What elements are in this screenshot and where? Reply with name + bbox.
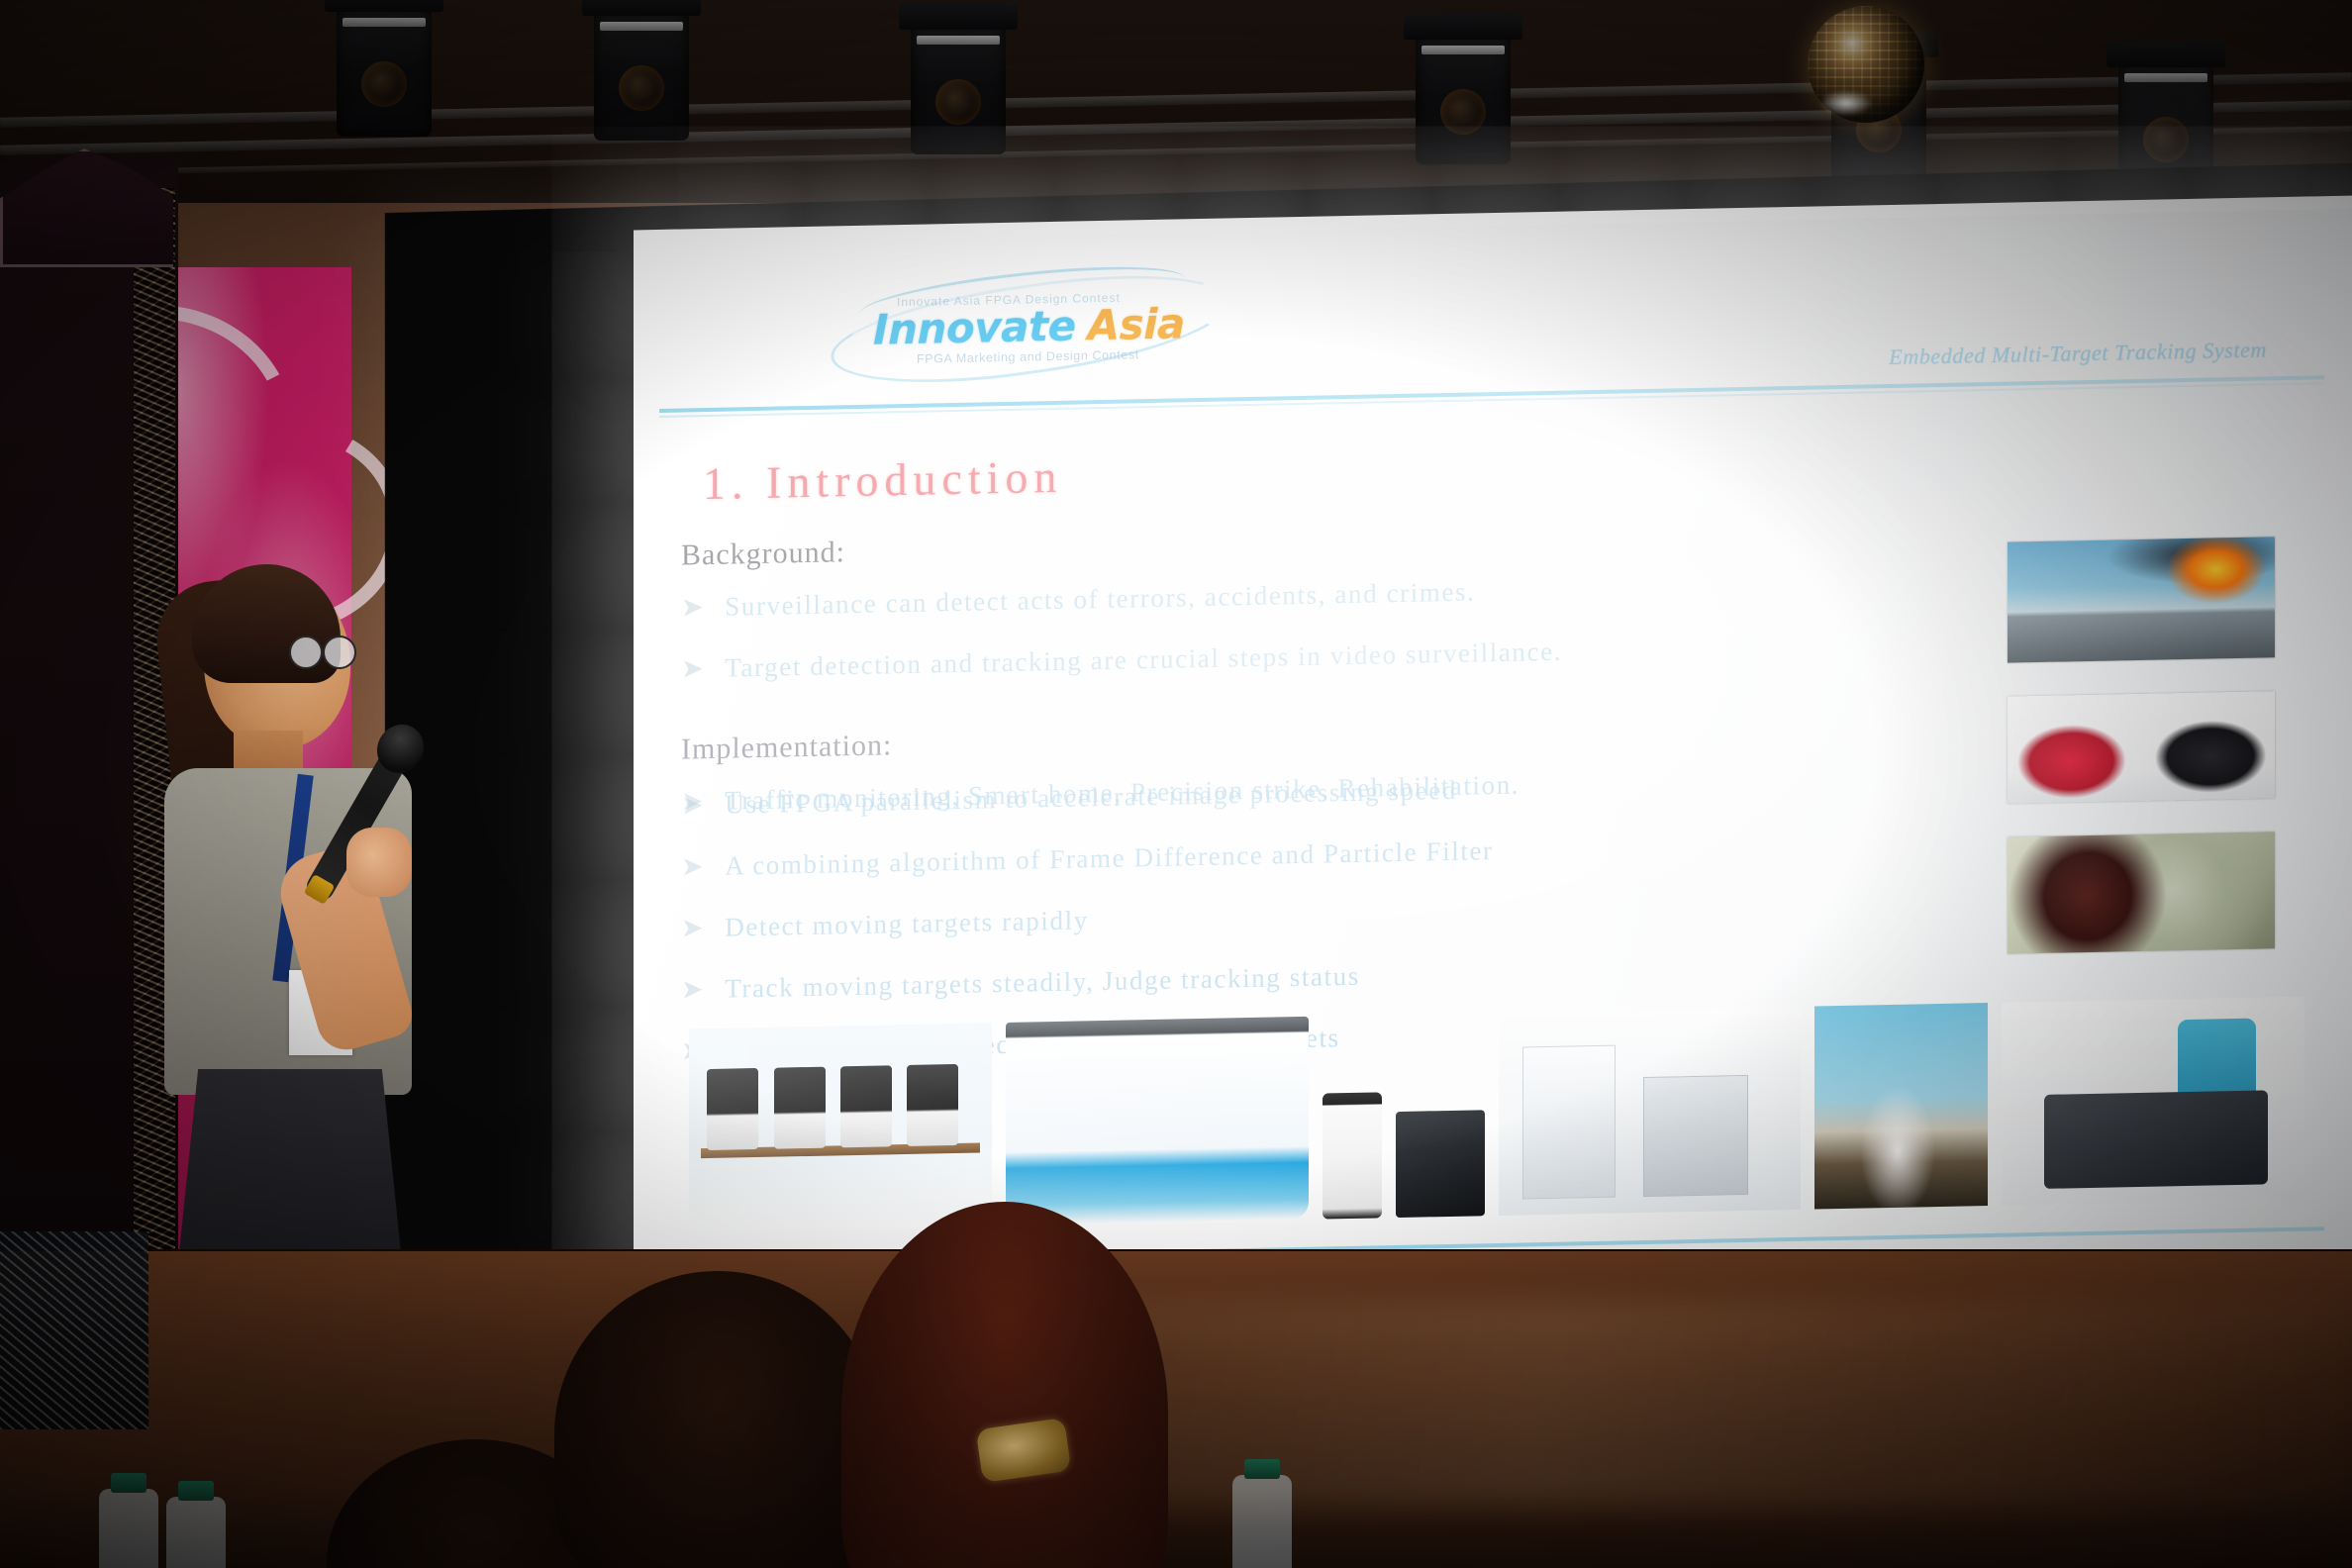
- slide-body: Background: ➤ Surveillance can detect ac…: [681, 517, 1790, 539]
- bullet-marker-icon: ➤: [681, 909, 705, 948]
- hair-clip-icon: [975, 1418, 1071, 1483]
- glasses-icon: [289, 636, 352, 665]
- bullet-text: Target detection and tracking are crucia…: [725, 633, 1562, 689]
- slide-bottom-image-strip: [689, 997, 2304, 1232]
- bullet-text: Surveillance can detect acts of terrors,…: [725, 572, 1475, 627]
- car-crash-photo: [2008, 691, 2275, 803]
- foreground-sparkle-trim: [0, 1231, 148, 1429]
- bullet-item: ➤ Track moving targets steadily, Judge t…: [681, 947, 1829, 1010]
- section-heading-background: Background:: [681, 517, 1790, 572]
- slide-title: 1. Introduction: [703, 450, 1062, 510]
- light-yoke: [582, 0, 701, 16]
- light-yoke: [325, 0, 443, 12]
- moving-head-light-icon: [911, 24, 1006, 154]
- moving-head-light-icon: [1416, 34, 1511, 164]
- water-bottle: [166, 1497, 226, 1568]
- bullet-marker-icon: ➤: [681, 588, 705, 628]
- bullet-marker-icon: ➤: [681, 847, 705, 887]
- money-crime-photo: [2008, 832, 2275, 953]
- smartphone-photo: [1323, 1092, 1382, 1219]
- innovate-asia-logo: Innovate Asia FPGA Design Contest Innova…: [830, 276, 1245, 375]
- bullet-item: ➤ Surveillance can detect acts of terror…: [681, 566, 1790, 628]
- bullet-marker-icon: ➤: [681, 649, 705, 689]
- bullet-text: Track moving targets steadily, Judge tra…: [725, 957, 1360, 1010]
- bullet-text: A combining algorithm of Frame Differenc…: [725, 832, 1493, 887]
- light-yoke: [1404, 14, 1522, 40]
- moving-head-light-icon: [337, 6, 432, 137]
- presenter-hand: [346, 828, 412, 897]
- water-bottle: [99, 1489, 158, 1568]
- smart-home-appliances-photo: [1499, 1007, 1802, 1216]
- slide-header-rule: [659, 382, 2324, 418]
- bullet-marker-icon: ➤: [681, 970, 705, 1010]
- slide-header-subject: Embedded Multi-Target Tracking System: [1889, 337, 2267, 370]
- bullet-text: Detect moving targets rapidly: [725, 901, 1089, 947]
- rehabilitation-machine-photo: [2002, 997, 2304, 1206]
- surveillance-cameras-photo: [689, 1023, 992, 1231]
- water-bottle: [1232, 1475, 1292, 1568]
- bullet-marker-icon: ➤: [681, 786, 705, 826]
- slide-image-stack: [2008, 537, 2275, 987]
- logo-word-secondary: Asia: [1088, 299, 1185, 349]
- bullet-item: ➤ Target detection and tracking are cruc…: [681, 628, 1790, 689]
- presentation-scene-photo: Innovate Asia FPGA Design Contest Innova…: [0, 0, 2352, 1568]
- tablet-photo: [1396, 1111, 1485, 1218]
- missile-launch-photo: [1814, 1003, 1988, 1210]
- smart-tv-photo: [1006, 1017, 1309, 1225]
- presentation-slide: Innovate Asia FPGA Design Contest Innova…: [641, 209, 2352, 1382]
- bullet-item: ➤ A combining algorithm of Frame Differe…: [681, 825, 1829, 887]
- moving-head-light-icon: [594, 10, 689, 141]
- logo-word-primary: Innovate: [873, 302, 1076, 354]
- bullet-item: ➤ Detect moving targets rapidly: [681, 886, 1829, 948]
- light-yoke: [2107, 42, 2225, 67]
- mirror-ball-icon: [1808, 6, 1924, 123]
- slide-layer-background: Background: ➤ Surveillance can detect ac…: [681, 517, 1790, 711]
- terror-attack-photo: [2008, 537, 2275, 662]
- light-yoke: [899, 4, 1018, 30]
- section-heading-implementation: Implementation:: [681, 710, 1829, 766]
